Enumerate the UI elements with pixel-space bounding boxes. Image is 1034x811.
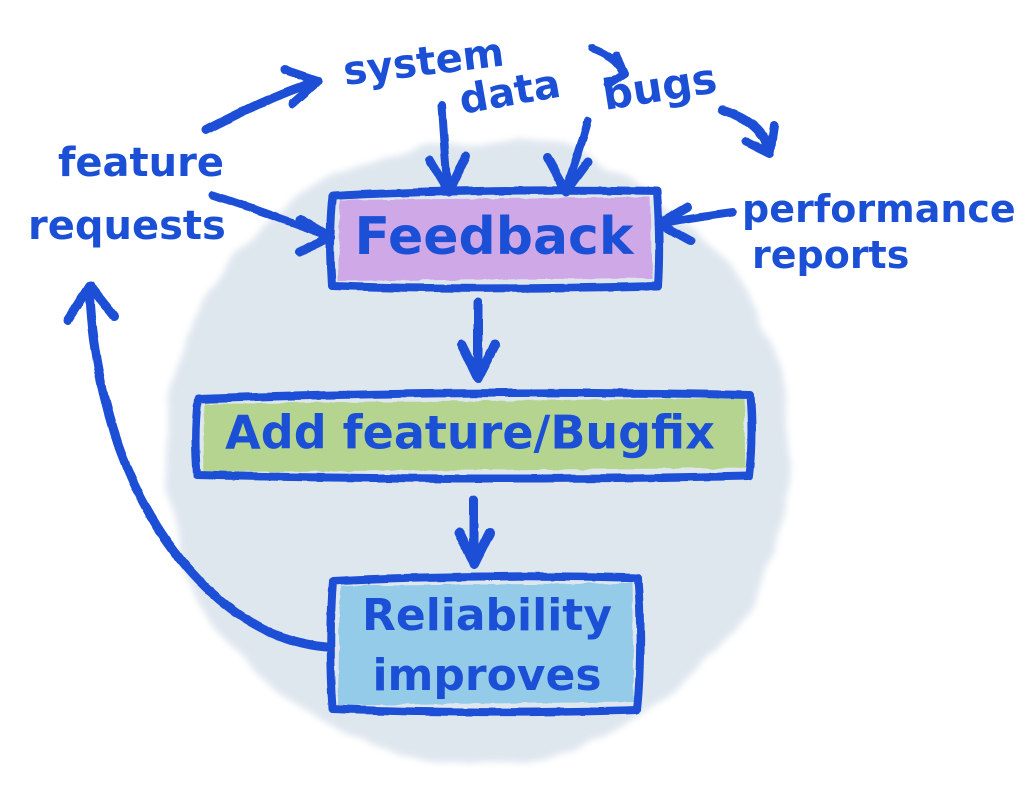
label-feature-requests-line2: requests <box>28 203 226 249</box>
label-system-data: system data <box>341 30 564 124</box>
label-bugs: bugs <box>599 53 720 119</box>
diagram-canvas: Feedback Add feature/Bugfix Reliability … <box>0 0 1034 811</box>
labels-layer: feature requests system data bugs perfor… <box>0 0 1034 811</box>
label-performance-reports: performance reports <box>742 187 1016 277</box>
label-feature-requests: feature requests <box>28 140 226 249</box>
label-feature-requests-line1: feature <box>58 140 224 186</box>
label-performance-reports-line2: reports <box>752 233 909 277</box>
label-performance-reports-line1: performance <box>742 187 1016 231</box>
label-bugs-line1: bugs <box>599 53 720 119</box>
